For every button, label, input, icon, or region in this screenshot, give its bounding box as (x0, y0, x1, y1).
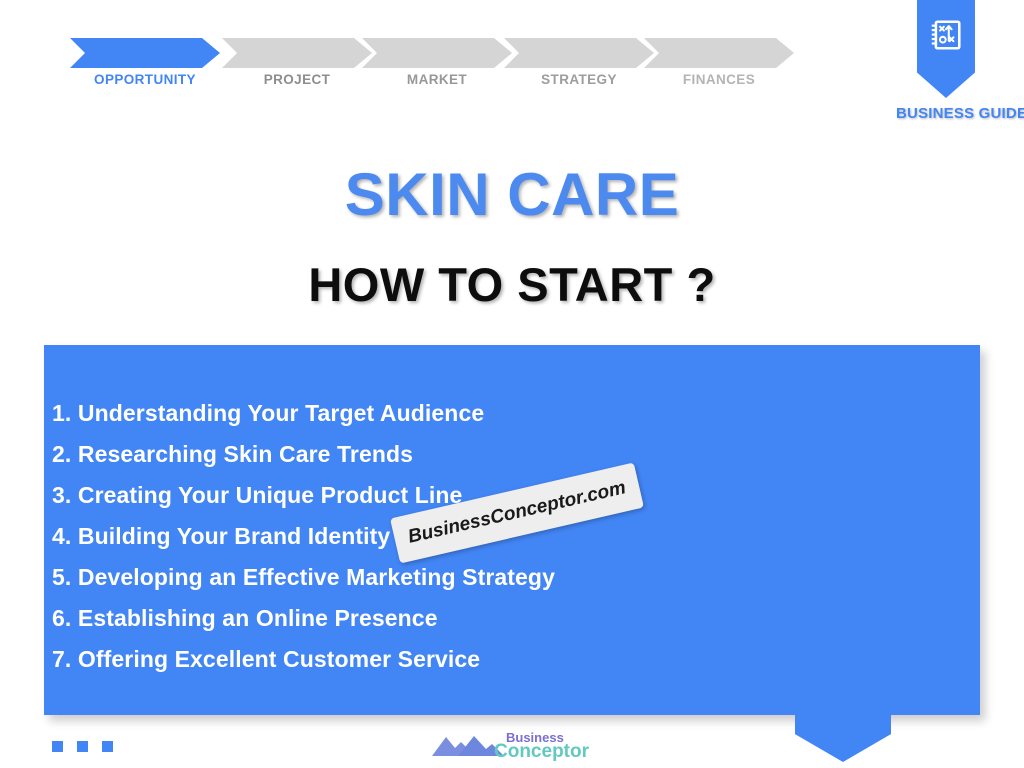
business-guides-brand: BUSINESS GUIDES (896, 0, 996, 122)
chevron-arrow-icon (362, 38, 512, 68)
slide-canvas: OPPORTUNITY PROJECT MARKET STRATEGY FINA… (0, 0, 1024, 768)
brand-banner-shape (917, 0, 975, 98)
step-finances[interactable]: FINANCES (644, 38, 794, 68)
bottom-banner-shape (795, 700, 891, 762)
dot-square-icon (77, 741, 88, 752)
decorative-dots (52, 741, 113, 752)
chevron-arrow-icon (222, 38, 372, 68)
chevron-arrow-icon (70, 38, 220, 68)
list-item: 6. Establishing an Online Presence (52, 598, 972, 639)
business-conceptor-logo: Business Conceptor (428, 726, 598, 764)
list-item: 5. Developing an Effective Marketing Str… (52, 557, 972, 598)
list-item: 1. Understanding Your Target Audience (52, 393, 972, 434)
mountain-logo-icon: Business Conceptor (428, 726, 598, 764)
step-opportunity[interactable]: OPPORTUNITY (70, 38, 220, 68)
step-project[interactable]: PROJECT (222, 38, 372, 68)
chevron-arrow-icon (644, 38, 794, 68)
logo-text-conceptor: Conceptor (494, 741, 590, 762)
step-label-market: MARKET (362, 72, 512, 87)
list-item: 7. Offering Excellent Customer Service (52, 639, 972, 680)
list-item: 2. Researching Skin Care Trends (52, 434, 972, 475)
step-label-finances: FINANCES (644, 72, 794, 87)
chevron-arrow-icon (504, 38, 654, 68)
page-subtitle: HOW TO START ? (0, 257, 1024, 312)
strategy-playbook-icon (929, 18, 963, 52)
step-label-strategy: STRATEGY (504, 72, 654, 87)
process-steps-breadcrumb: OPPORTUNITY PROJECT MARKET STRATEGY FINA… (70, 38, 830, 90)
step-label-opportunity: OPPORTUNITY (70, 72, 220, 87)
step-market[interactable]: MARKET (362, 38, 512, 68)
step-strategy[interactable]: STRATEGY (504, 38, 654, 68)
page-title: SKIN CARE (0, 160, 1024, 229)
dot-square-icon (102, 741, 113, 752)
step-label-project: PROJECT (222, 72, 372, 87)
brand-label: BUSINESS GUIDES (896, 105, 996, 122)
dot-square-icon (52, 741, 63, 752)
